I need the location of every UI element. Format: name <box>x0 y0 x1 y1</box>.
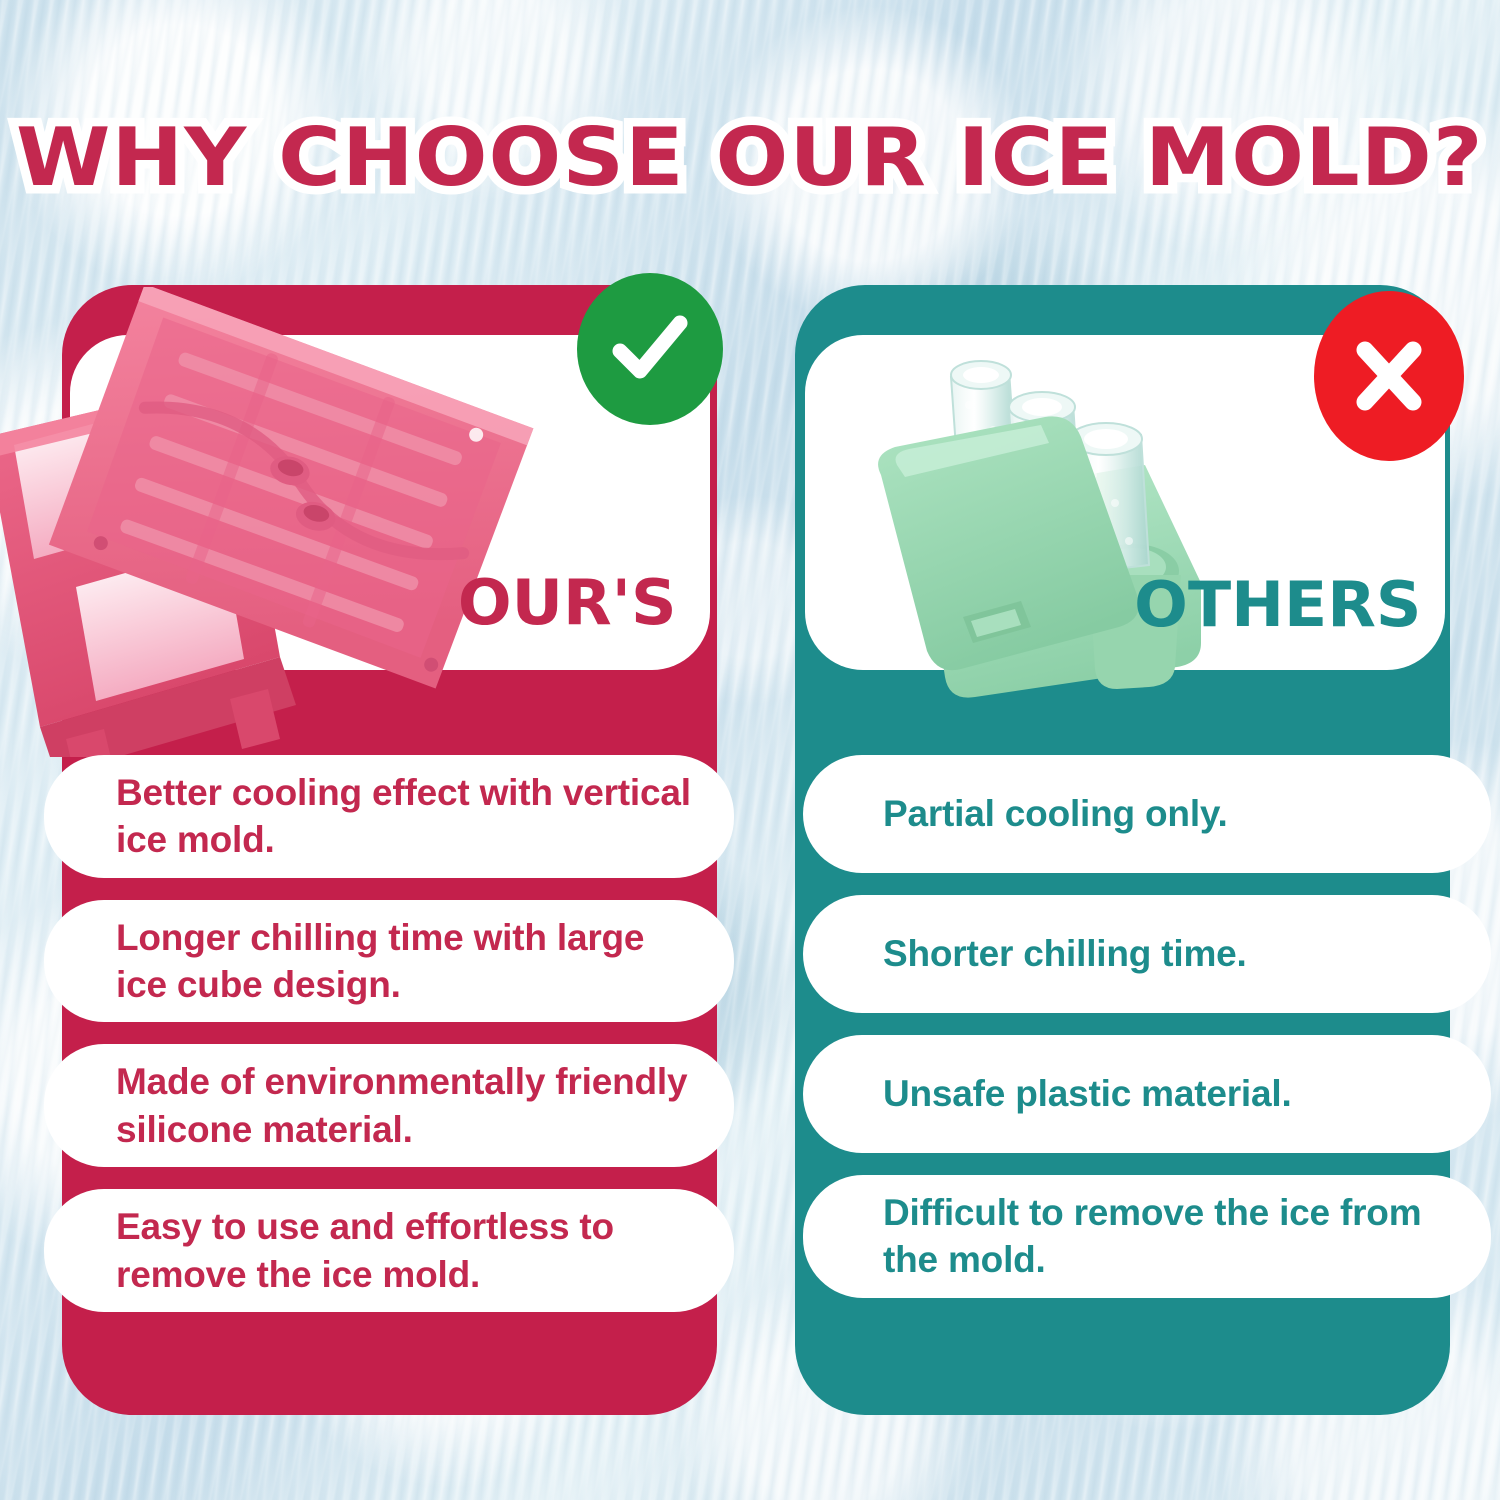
feature-list-ours: Better cooling effect with vertical ice … <box>44 755 734 1312</box>
feature-item: Shorter chilling time. <box>803 895 1491 1013</box>
feature-item: Partial cooling only. <box>803 755 1491 873</box>
feature-list-others: Partial cooling only. Shorter chilling t… <box>803 755 1491 1298</box>
feature-text: Difficult to remove the ice from the mol… <box>883 1189 1451 1284</box>
column-label-others: OTHERS <box>1135 574 1422 636</box>
cross-icon <box>1314 291 1464 461</box>
infographic-canvas: WHY CHOOSE OUR ICE MOLD? <box>0 0 1500 1500</box>
cross-glyph <box>1343 330 1435 422</box>
page-title-container: WHY CHOOSE OUR ICE MOLD? <box>0 118 1500 198</box>
check-glyph <box>604 303 696 395</box>
check-icon <box>577 273 723 425</box>
feature-item: Difficult to remove the ice from the mol… <box>803 1175 1491 1298</box>
feature-item: Unsafe plastic material. <box>803 1035 1491 1153</box>
feature-text: Longer chilling time with large ice cube… <box>116 914 694 1009</box>
feature-text: Partial cooling only. <box>883 790 1228 837</box>
feature-text: Easy to use and effortless to remove the… <box>116 1203 694 1298</box>
pink-ice-mold-illustration <box>0 287 640 757</box>
column-label-ours: OUR'S <box>457 572 676 634</box>
feature-text: Unsafe plastic material. <box>883 1070 1292 1117</box>
feature-item: Easy to use and effortless to remove the… <box>44 1189 734 1312</box>
feature-item: Better cooling effect with vertical ice … <box>44 755 734 878</box>
page-title: WHY CHOOSE OUR ICE MOLD? <box>16 118 1484 198</box>
feature-text: Shorter chilling time. <box>883 930 1247 977</box>
mint-ice-mold-illustration <box>845 325 1285 725</box>
comparison-column-others: OTHERS Partial cooling only. Shorter chi… <box>795 285 1450 1415</box>
feature-text: Better cooling effect with vertical ice … <box>116 769 694 864</box>
comparison-column-ours: OUR'S Better cooling effect with vertica… <box>62 285 717 1415</box>
feature-item: Made of environmentally friendly silicon… <box>44 1044 734 1167</box>
feature-item: Longer chilling time with large ice cube… <box>44 900 734 1023</box>
feature-text: Made of environmentally friendly silicon… <box>116 1058 694 1153</box>
